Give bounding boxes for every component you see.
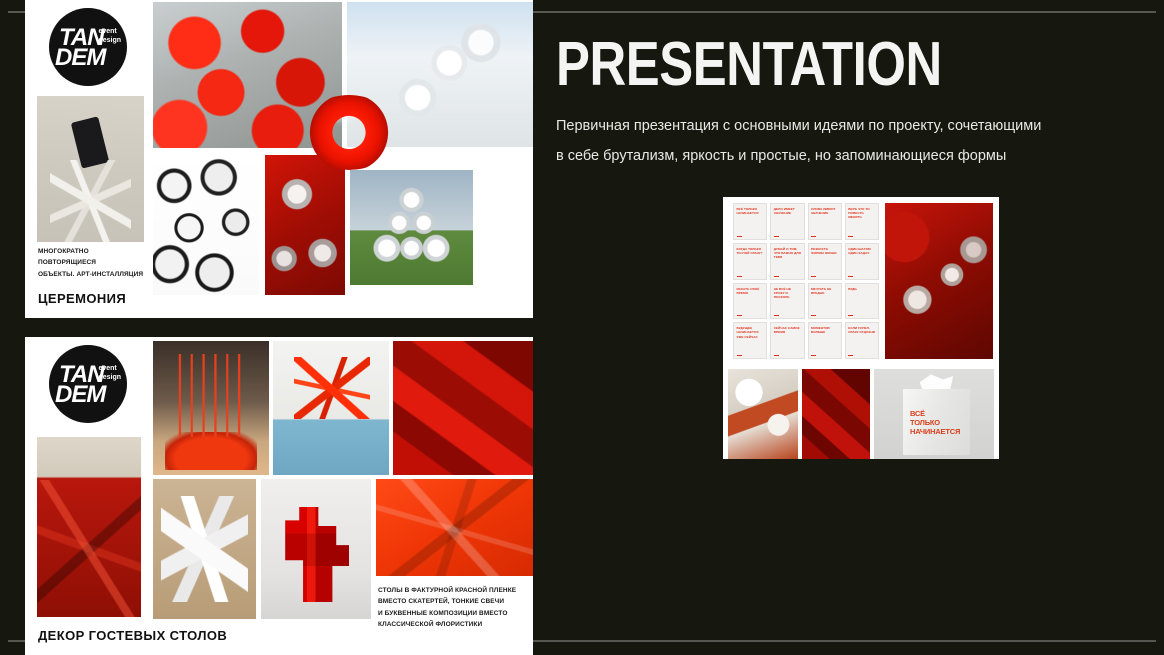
caption-decor-line2: ВМЕСТО СКАТЕРТЕЙ, ТОНКИЕ СВЕЧИ (378, 598, 504, 605)
caption-decor-line4: КЛАССИЧЕСКОЙ ФЛОРИСТИКИ (378, 621, 482, 628)
logo-tagline-line1: event (98, 365, 116, 372)
poster-card: СЕЙЧАС САМОЕ ВРЕМЯ (770, 322, 804, 359)
caption-decor: СТОЛЫ В ФАКТУРНОЙ КРАСНОЙ ПЛЕНКЕ ВМЕСТО … (378, 585, 528, 631)
poster-text: МОМЕНТОВ БОЛЬШЕ (811, 326, 838, 334)
poster-text: БУДЬ (848, 287, 857, 291)
poster-text: ВЕРЬ ЧТО ТО ПОВЕСТЬ МЕНЯТЬ (848, 207, 875, 220)
caption-decor-line1: СТОЛЫ В ФАКТУРНОЙ КРАСНОЙ ПЛЕНКЕ (378, 587, 516, 594)
poster-text: БУДУЩЕЕ НАЧИНАЕТСЯ УЖЕ СЕЙЧАС (737, 326, 764, 339)
moodboard-card-ceremony[interactable]: TAN DEM event design МНОГОКРАТНО ПОВТОРЯ… (25, 0, 533, 318)
photo-red-script-vitrine (273, 341, 389, 475)
photo-red-wrapped-table (37, 437, 141, 617)
caption-decor-line3: И БУКВЕННЫЕ КОМПОЗИЦИИ ВМЕСТО (378, 610, 507, 617)
poster-card: НЕ ВСЁ НЕ СРОКУ И ПОСКОЛЬ (770, 283, 804, 320)
page-subtitle: Первичная презентация с основными идеями… (556, 112, 1116, 171)
photo-red-mirrored-rings (885, 203, 993, 359)
presentation-moodboard-panel[interactable]: ВСЁ ТОЛЬКО НАЧИНАЕТСЯ ДЕЛО ИМЕЕТ ЗНАЧЕНИ… (723, 197, 999, 459)
photo-orange-letters (376, 479, 533, 576)
presentation-slide: TAN DEM event design МНОГОКРАТНО ПОВТОРЯ… (0, 0, 1164, 655)
photo-stacked-chairs (37, 96, 144, 242)
photo-red-mirror-sphere (265, 155, 345, 295)
box-slogan-line2: ТОЛЬКО (910, 418, 940, 427)
poster-card: ДЕЛО ИМЕЕТ ЗНАЧЕНИЕ (770, 203, 804, 240)
poster-text: ОДИН ШАГОМ ОДИН ЗАДАЧ (848, 247, 875, 255)
poster-text: ИСКАТЬ СВОЁ ВРЕМЯ (737, 287, 764, 295)
poster-card: ИСКАТЬ СВОЁ ВРЕМЯ (733, 283, 767, 320)
poster-card: МЕЧТАТЬ НЕ ВРЕДНО (808, 283, 842, 320)
photo-concrete-pipes (350, 170, 473, 285)
poster-card: ЕСЛИ УСПЕЛ, СРАЗУ ОТДОХНИ (845, 322, 879, 359)
poster-text: ВСЁ ТОЛЬКО НАЧИНАЕТСЯ (737, 207, 764, 215)
tandem-logo-secondary: TAN DEM event design (49, 345, 127, 423)
poster-grid: ВСЁ ТОЛЬКО НАЧИНАЕТСЯ ДЕЛО ИМЕЕТ ЗНАЧЕНИ… (733, 203, 879, 359)
logo-tagline: event design (98, 28, 121, 46)
poster-text: РЕЗКОСТЬ ФОРМЫ ЖИЗНИ (811, 247, 838, 255)
poster-card: МОМЕНТОВ БОЛЬШЕ (808, 322, 842, 359)
poster-text: КОГДА ТОЛЬКО ТЫ ПОЙ СРАЗУ? (737, 247, 764, 255)
logo-line-dem: DEM (55, 383, 105, 407)
photo-red-donut-ring (299, 95, 399, 170)
poster-text: СЛОВА ИМЕЮТ ЗНАЧЕНИЕ (811, 207, 838, 215)
photo-red-plastic-film (393, 341, 533, 475)
photo-red-pixel-sculpture (261, 479, 371, 619)
poster-text: ДЕЛО ИМЕЕТ ЗНАЧЕНИЕ (774, 207, 801, 215)
poster-text: МЕЧТАТЬ НЕ ВРЕДНО (811, 287, 838, 295)
page-subtitle-line1: Первичная презентация с основными идеями… (556, 118, 1041, 134)
tissue-box-slogan: ВСЁ ТОЛЬКО НАЧИНАЕТСЯ (910, 409, 960, 437)
poster-card: РЕЗКОСТЬ ФОРМЫ ЖИЗНИ (808, 243, 842, 280)
logo-tagline-line2: design (98, 37, 121, 44)
logo-tagline-line2: design (98, 374, 121, 381)
poster-text: ДУМАЙ О ТОМ, ЧТО ВАЖНО ДЛЯ ТЕБЯ (774, 247, 801, 260)
poster-card: ВСЁ ТОЛЬКО НАЧИНАЕТСЯ (733, 203, 767, 240)
poster-card: ОДИН ШАГОМ ОДИН ЗАДАЧ (845, 243, 879, 280)
photo-bw-mirror-circles (153, 155, 259, 295)
tandem-logo: TAN DEM event design (49, 8, 127, 86)
box-slogan-line3: НАЧИНАЕТСЯ (910, 427, 960, 436)
box-slogan-line1: ВСЁ (910, 409, 925, 418)
logo-tagline-line1: event (98, 28, 116, 35)
card-title-ceremony: ЦЕРЕМОНИЯ (38, 291, 126, 306)
poster-card: КОГДА ТОЛЬКО ТЫ ПОЙ СРАЗУ? (733, 243, 767, 280)
poster-text: ЕСЛИ УСПЕЛ, СРАЗУ ОТДОХНИ (848, 326, 875, 334)
caption-ceremony-line1: МНОГОКРАТНО ПОВТОРЯЩИЕСЯ (38, 248, 96, 266)
logo-line-dem: DEM (55, 46, 105, 70)
moodboard-card-decor[interactable]: TAN DEM event design СТОЛЫ В ФАКТУРНОЙ К… (25, 337, 533, 655)
caption-ceremony-line2: ОБЪЕКТЫ. АРТ-ИНСТАЛЛЯЦИЯ (38, 271, 143, 278)
poster-text: НЕ ВСЁ НЕ СРОКУ И ПОСКОЛЬ (774, 287, 801, 300)
page-title: PRESENTATION (556, 36, 942, 93)
logo-tagline: event design (98, 365, 121, 383)
poster-text: СЕЙЧАС САМОЕ ВРЕМЯ (774, 326, 801, 334)
photo-white-letter-blocks (153, 479, 256, 619)
caption-ceremony: МНОГОКРАТНО ПОВТОРЯЩИЕСЯ ОБЪЕКТЫ. АРТ-ИН… (38, 246, 148, 280)
panel-bottom-section: ВСЁ ТОЛЬКО НАЧИНАЕТСЯ (723, 369, 999, 459)
poster-card: БУДУЩЕЕ НАЧИНАЕТСЯ УЖЕ СЕЙЧАС (733, 322, 767, 359)
page-subtitle-line2: в себе брутализм, яркость и простые, но … (556, 148, 1006, 164)
photo-red-candles (153, 341, 269, 475)
poster-card: ВЕРЬ ЧТО ТО ПОВЕСТЬ МЕНЯТЬ (845, 203, 879, 240)
photo-tissue-box: ВСЁ ТОЛЬКО НАЧИНАЕТСЯ (874, 369, 994, 459)
poster-card: СЛОВА ИМЕЮТ ЗНАЧЕНИЕ (808, 203, 842, 240)
card-title-decor: ДЕКОР ГОСТЕВЫХ СТОЛОВ (38, 628, 227, 643)
poster-card: ДУМАЙ О ТОМ, ЧТО ВАЖНО ДЛЯ ТЕБЯ (770, 243, 804, 280)
photo-red-velvet-invitations (802, 369, 870, 459)
poster-card: БУДЬ (845, 283, 879, 320)
panel-top-section: ВСЁ ТОЛЬКО НАЧИНАЕТСЯ ДЕЛО ИМЕЕТ ЗНАЧЕНИ… (723, 197, 999, 365)
photo-wedding-stationery (728, 369, 798, 459)
